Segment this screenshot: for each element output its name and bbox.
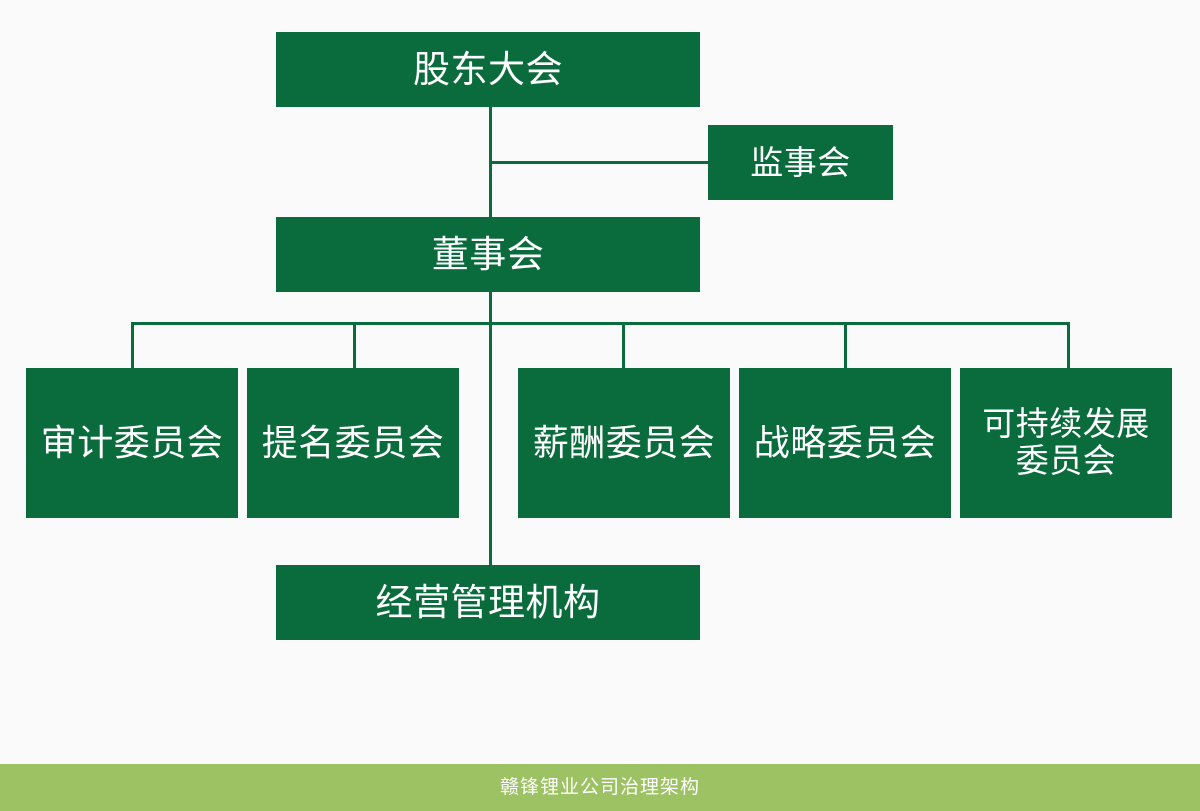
node-sustainability-committee: 可持续发展 委员会: [960, 368, 1172, 518]
connector-committee-bus: [132, 322, 1070, 325]
node-nomination-committee: 提名委员会: [247, 368, 459, 518]
node-audit-committee: 审计委员会: [26, 368, 238, 518]
connector-shareholders-to-supervisory: [489, 161, 710, 164]
node-board-of-directors: 董事会: [276, 217, 700, 292]
node-supervisory-board: 监事会: [708, 125, 893, 200]
node-management-organization: 经营管理机构: [276, 565, 700, 640]
connector-leg-audit: [131, 322, 134, 370]
connector-leg-nomination: [353, 322, 356, 370]
org-chart-canvas: 股东大会 监事会 董事会 审计委员会 提名委员会 薪酬委员会 战略委员会 可持续…: [0, 0, 1200, 811]
connector-leg-strategy: [844, 322, 847, 370]
connector-board-to-management: [489, 291, 492, 567]
node-strategy-committee: 战略委员会: [739, 368, 951, 518]
caption-title: 赣锋锂业公司治理架构: [500, 778, 700, 797]
connector-leg-sustainability: [1067, 322, 1070, 370]
node-shareholders-meeting: 股东大会: [276, 32, 700, 107]
connector-leg-remuneration: [622, 322, 625, 370]
node-remuneration-committee: 薪酬委员会: [518, 368, 730, 518]
caption-bar: 赣锋锂业公司治理架构: [0, 764, 1200, 811]
